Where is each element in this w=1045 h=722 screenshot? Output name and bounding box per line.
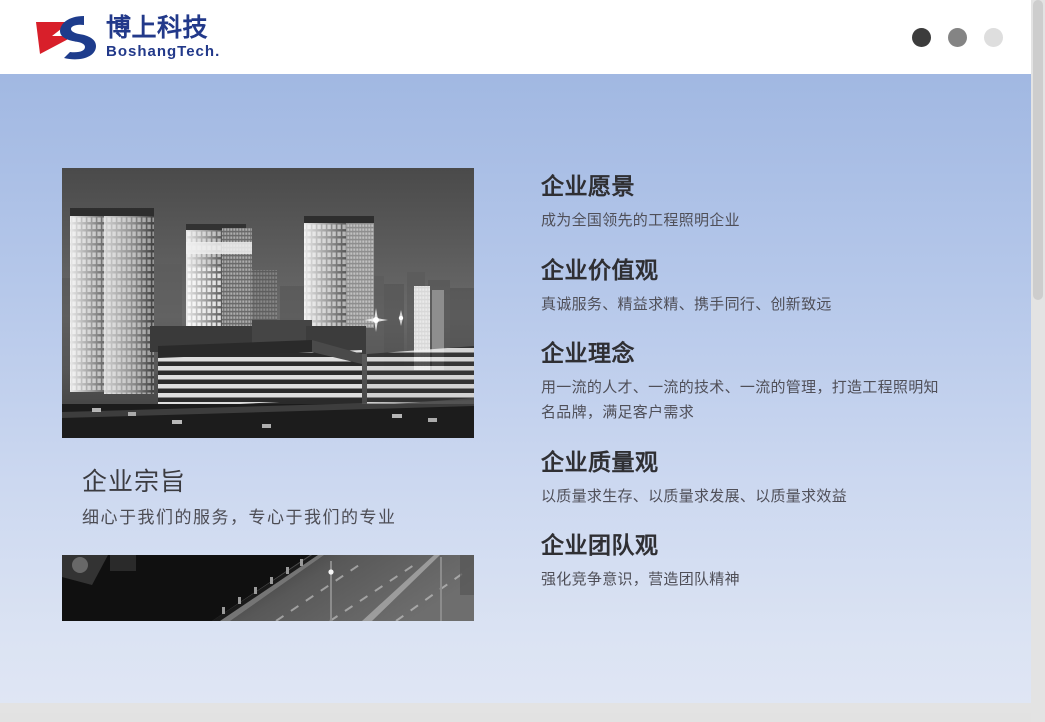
purpose-block: 企业宗旨 细心于我们的服务，专心于我们的专业 [62,466,474,530]
purpose-description: 细心于我们的服务，专心于我们的专业 [82,506,474,530]
section-philosophy-title: 企业理念 [541,339,971,369]
aerial-highway-night-photo [62,555,474,621]
boshang-logo[interactable]: 博上科技 BoshangTech. [34,10,234,64]
section-values: 企业价值观 真诚服务、精益求精、携手同行、创新致远 [541,256,971,318]
logo-latin-name: BoshangTech. [106,43,220,60]
dot-medium-icon[interactable] [948,28,967,47]
dot-dark-icon[interactable] [912,28,931,47]
horizontal-scrollbar[interactable] [0,703,1031,713]
section-philosophy-description: 用一流的人才、一流的技术、一流的管理，打造工程照明知名品牌，满足客户需求 [541,376,949,426]
purpose-title: 企业宗旨 [82,466,474,500]
logo-mark-blue-icon [60,12,96,62]
section-vision: 企业愿景 成为全国领先的工程照明企业 [541,172,971,234]
section-philosophy: 企业理念 用一流的人才、一流的技术、一流的管理，打造工程照明知名品牌，满足客户需… [541,339,971,425]
browser-viewport: 博上科技 BoshangTech. [0,0,1031,713]
vertical-scrollbar-thumb[interactable] [1033,0,1043,300]
section-team-description: 强化竞争意识，营造团队精神 [541,568,949,593]
left-column: 企业宗旨 细心于我们的服务，专心于我们的专业 [62,168,474,621]
site-header: 博上科技 BoshangTech. [0,0,1031,74]
section-vision-description: 成为全国领先的工程照明企业 [541,209,949,234]
city-skyline-night-photo [62,168,474,438]
section-values-title: 企业价值观 [541,256,971,286]
main-content-panel: 企业宗旨 细心于我们的服务，专心于我们的专业 [0,74,1031,713]
right-column: 企业愿景 成为全国领先的工程照明企业 企业价值观 真诚服务、精益求精、携手同行、… [541,172,971,593]
city-photo-graphic [62,168,474,438]
header-dot-indicators[interactable] [912,28,1003,47]
section-quality-description: 以质量求生存、以质量求发展、以质量求效益 [541,485,949,510]
tower-middle [186,224,252,328]
section-values-description: 真诚服务、精益求精、携手同行、创新致远 [541,293,949,318]
section-vision-title: 企业愿景 [541,172,971,202]
dot-light-icon[interactable] [984,28,1003,47]
section-quality: 企业质量观 以质量求生存、以质量求发展、以质量求效益 [541,448,971,510]
page-root: 博上科技 BoshangTech. [0,0,1045,722]
logo-chinese-name: 博上科技 [106,14,208,42]
road-photo-graphic [62,555,474,621]
tower-left [70,208,154,394]
section-team-title: 企业团队观 [541,531,971,561]
section-quality-title: 企业质量观 [541,448,971,478]
vertical-scrollbar[interactable] [1031,0,1045,722]
content-columns: 企业宗旨 细心于我们的服务，专心于我们的专业 [0,74,1031,713]
tower-right [304,216,374,328]
section-team: 企业团队观 强化竞争意识，营造团队精神 [541,531,971,593]
